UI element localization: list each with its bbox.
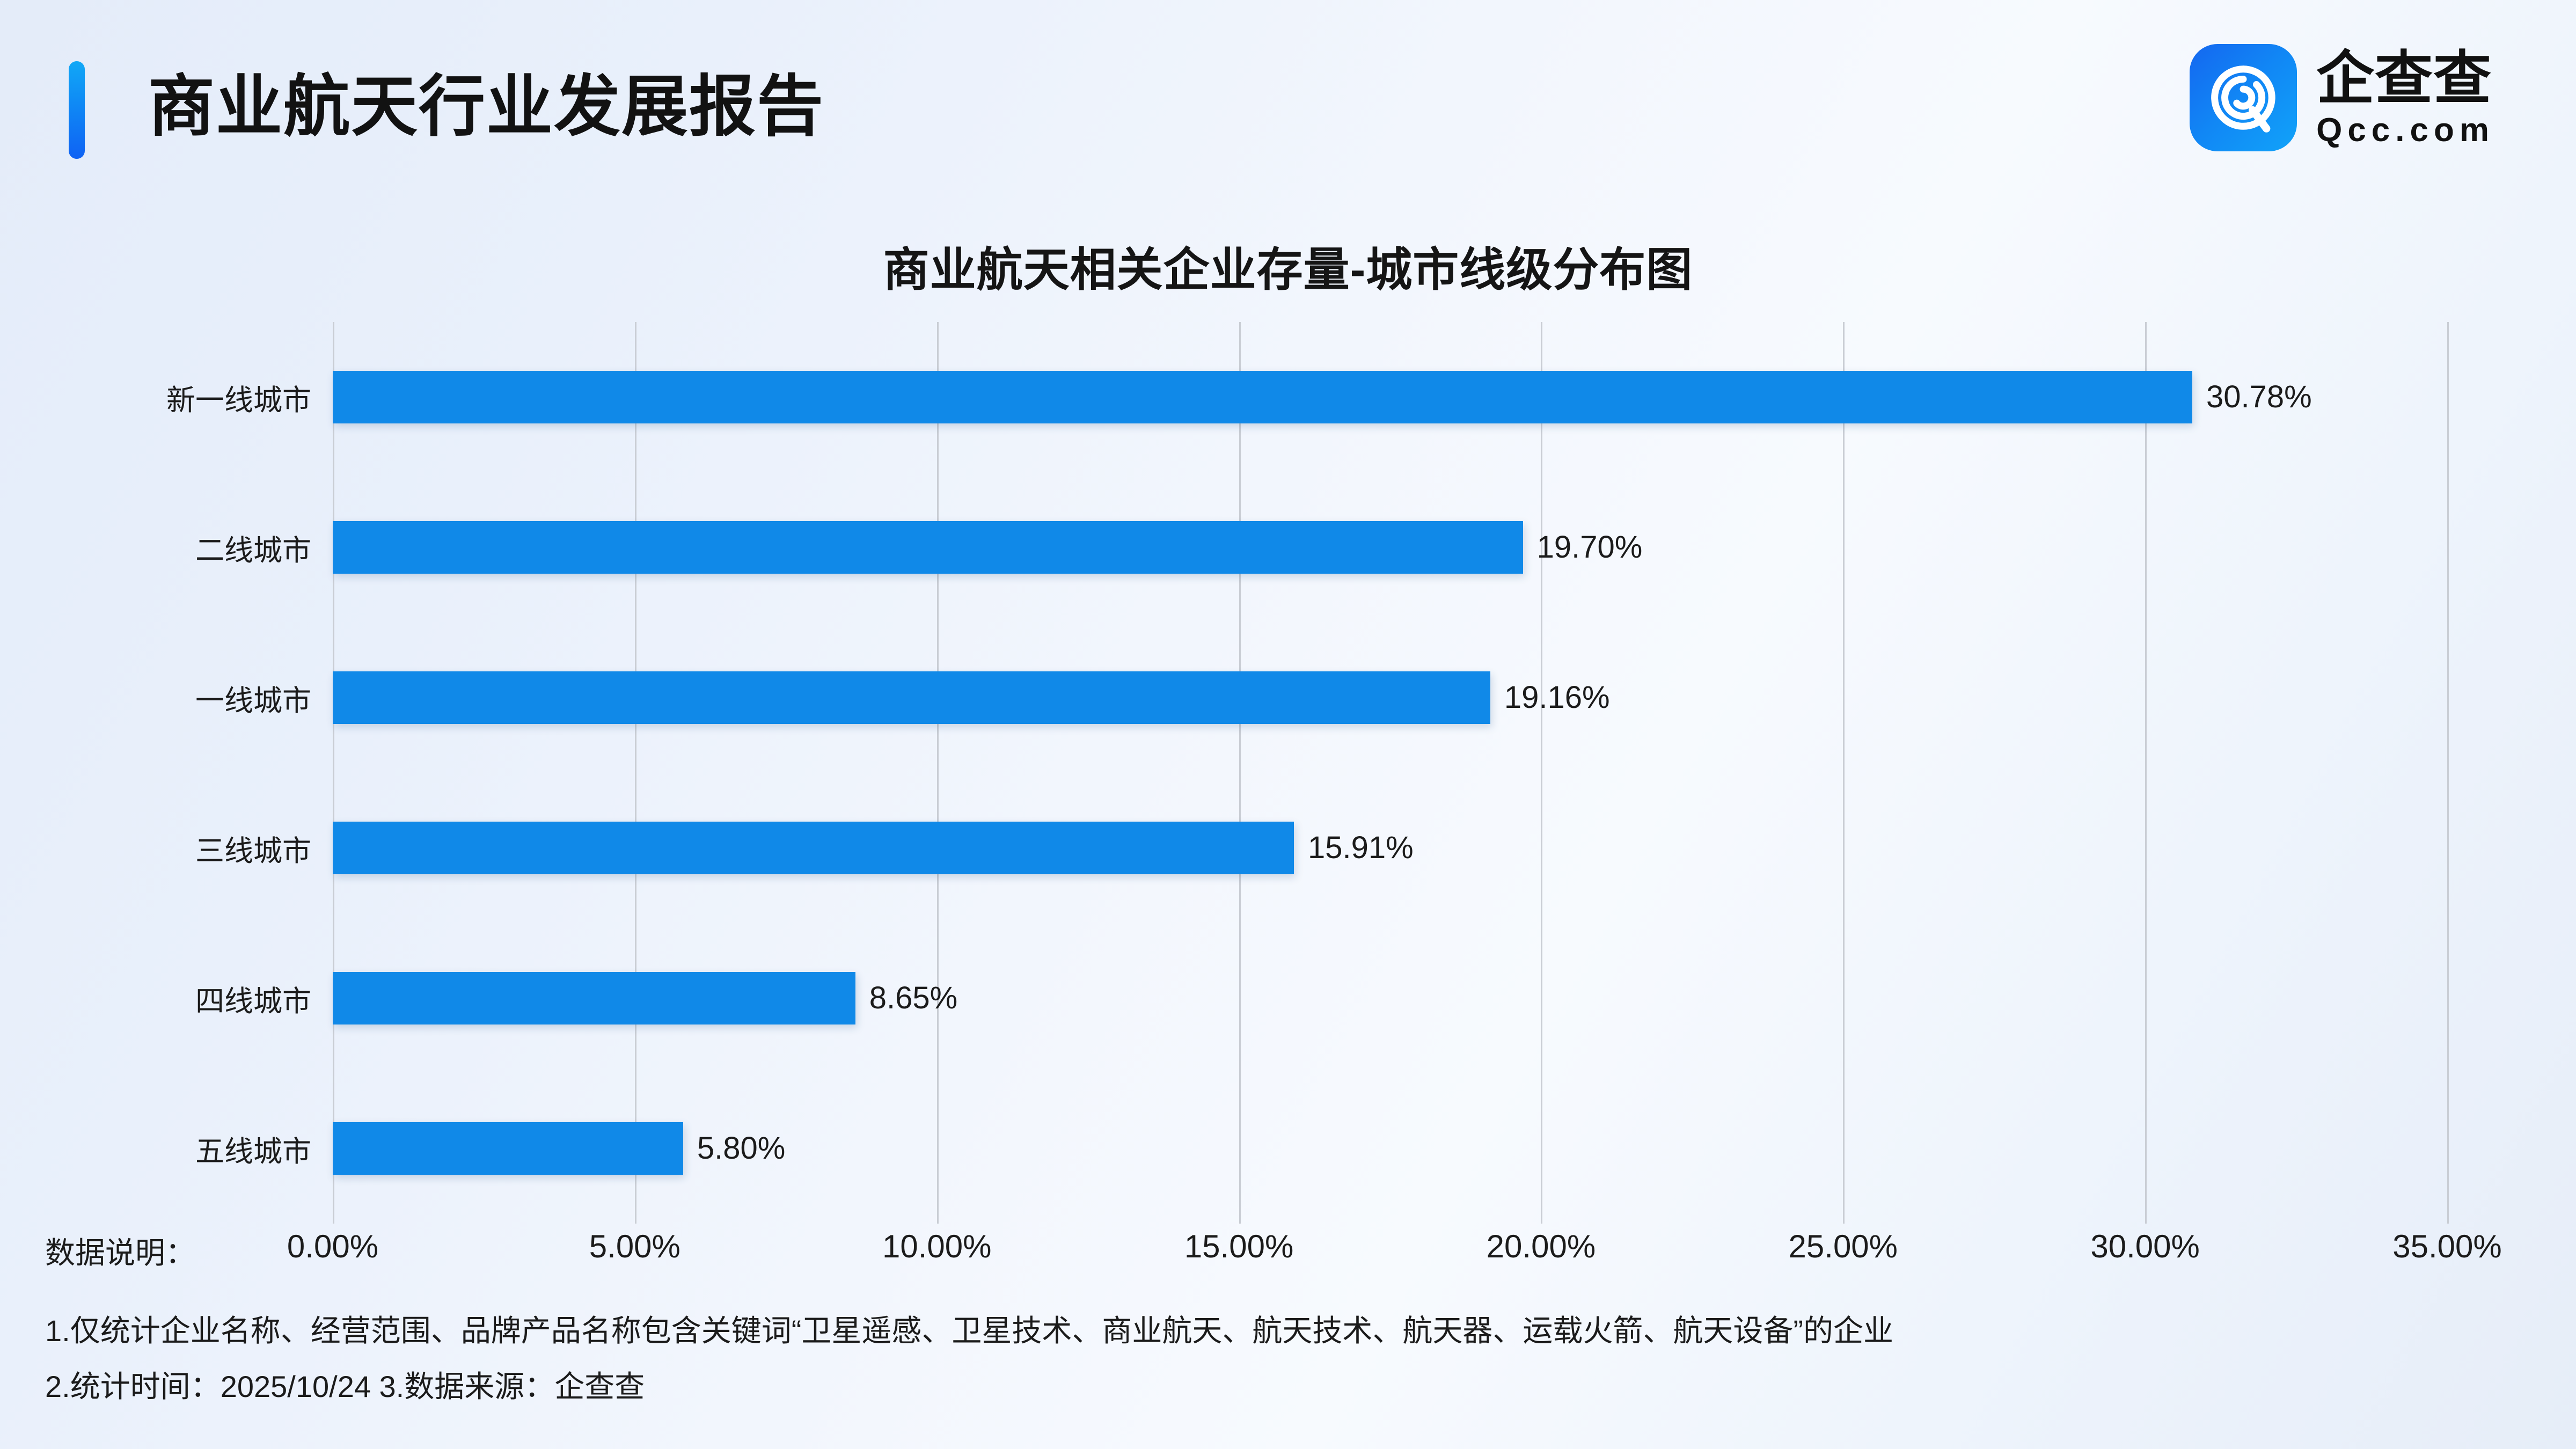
chart-bar[interactable] — [333, 1122, 683, 1175]
chart-row: 四线城市8.65% — [0, 923, 2576, 1073]
chart-bars: 新一线城市30.78%二线城市19.70%一线城市19.16%三线城市15.91… — [0, 322, 2576, 1224]
chart-bar[interactable] — [333, 371, 2192, 423]
chart-row: 一线城市19.16% — [0, 623, 2576, 773]
bar-value-label: 8.65% — [869, 983, 957, 1014]
bar-value-label: 19.16% — [1504, 682, 1610, 713]
x-axis-tick-label: 30.00% — [2090, 1228, 2200, 1265]
x-axis-tick-label: 0.00% — [287, 1228, 378, 1265]
x-axis-tick-label: 5.00% — [589, 1228, 680, 1265]
x-axis-tick-label: 25.00% — [1789, 1228, 1898, 1265]
qcc-logo-icon — [2190, 44, 2297, 151]
brand-logo[interactable]: 企查查 Qcc.com — [2190, 44, 2494, 151]
bar-value-label: 15.91% — [1308, 832, 1414, 863]
data-note-line-2: 2.统计时间：2025/10/24 3.数据来源：企查查 — [45, 1359, 2546, 1415]
chart-plot-area: 新一线城市30.78%二线城市19.70%一线城市19.16%三线城市15.91… — [0, 322, 2576, 1224]
bar-value-label: 30.78% — [2206, 382, 2312, 413]
data-note-line-1: 1.仅统计企业名称、经营范围、品牌产品名称包含关键词“卫星遥感、卫星技术、商业航… — [45, 1303, 2546, 1359]
brand-name-en: Qcc.com — [2316, 113, 2494, 148]
chart-bar[interactable] — [333, 822, 1294, 874]
x-axis-tick-label: 20.00% — [1487, 1228, 1596, 1265]
y-axis-label: 新一线城市 — [0, 376, 311, 419]
chart-bar[interactable] — [333, 671, 1490, 724]
page-title: 商业航天行业发展报告 — [148, 56, 824, 158]
chart-row: 新一线城市30.78% — [0, 322, 2576, 472]
x-axis-tick-label: 15.00% — [1184, 1228, 1294, 1265]
accent-bar-icon — [69, 61, 85, 159]
bar-value-label: 5.80% — [697, 1133, 785, 1164]
chart-bar[interactable] — [333, 521, 1523, 574]
y-axis-label: 二线城市 — [0, 526, 311, 569]
chart-bar[interactable] — [333, 972, 855, 1024]
chart-row: 二线城市19.70% — [0, 472, 2576, 623]
y-axis-label: 四线城市 — [0, 977, 311, 1020]
x-axis-tick-label: 35.00% — [2392, 1228, 2502, 1265]
data-note-label: 数据说明： — [45, 1229, 195, 1272]
y-axis-label: 三线城市 — [0, 827, 311, 869]
data-note-list: 1.仅统计企业名称、经营范围、品牌产品名称包含关键词“卫星遥感、卫星技术、商业航… — [45, 1303, 2546, 1415]
y-axis-label: 五线城市 — [0, 1128, 311, 1170]
brand-text: 企查查 Qcc.com — [2316, 47, 2494, 148]
chart-x-axis: 0.00%5.00%10.00%15.00%20.00%25.00%30.00%… — [0, 1228, 2576, 1282]
chart-row: 五线城市5.80% — [0, 1073, 2576, 1224]
page-header: 商业航天行业发展报告 企查查 Qcc.com — [0, 0, 2576, 209]
y-axis-label: 一线城市 — [0, 677, 311, 719]
x-axis-tick-label: 10.00% — [882, 1228, 992, 1265]
chart-title: 商业航天相关企业存量-城市线级分布图 — [0, 232, 2576, 299]
bar-value-label: 19.70% — [1537, 532, 1643, 563]
brand-name-cn: 企查查 — [2316, 47, 2494, 109]
chart-row: 三线城市15.91% — [0, 773, 2576, 923]
